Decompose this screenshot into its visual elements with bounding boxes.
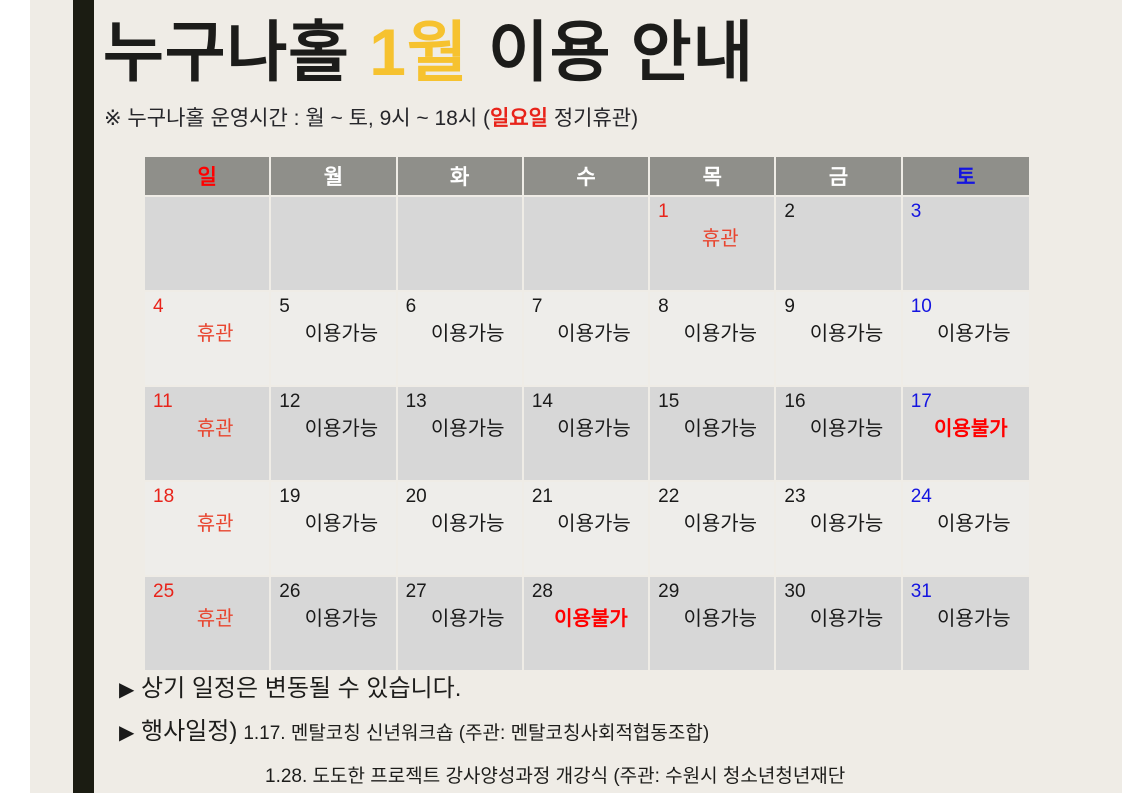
calendar-week-row: 25휴관26이용가능27이용가능28이용불가29이용가능30이용가능31이용가능 [145, 577, 1029, 672]
day-status-label: 이용가능 [903, 322, 1029, 346]
day-status-label: 이용가능 [271, 322, 395, 346]
day-number: 29 [658, 581, 679, 603]
day-status-label: 이용가능 [398, 607, 522, 631]
calendar-day-cell-6[interactable]: 6이용가능 [398, 292, 524, 387]
day-number: 4 [153, 296, 164, 318]
subtitle-suffix: 정기휴관) [548, 107, 638, 130]
day-number: 8 [658, 296, 669, 318]
calendar-day-cell-10[interactable]: 10이용가능 [903, 292, 1029, 387]
slide-canvas: 누구나홀 1월 이용 안내 ※ 누구나홀 운영시간 : 월 ~ 토, 9시 ~ … [0, 0, 1122, 793]
calendar-day-cell-27[interactable]: 27이용가능 [398, 577, 524, 672]
calendar-day-cell-13[interactable]: 13이용가능 [398, 387, 524, 482]
note-item-events: ▶ 행사일정) 1.17. 멘탈코칭 신년워크숍 (주관: 멘탈코칭사회적협동조… [119, 717, 1119, 749]
day-number: 24 [911, 486, 932, 508]
day-status-label: 이용가능 [650, 417, 774, 441]
weekday-header-금: 금 [776, 157, 902, 195]
day-status-label: 이용가능 [776, 322, 900, 346]
calendar-day-cell-24[interactable]: 24이용가능 [903, 482, 1029, 577]
calendar-day-cell-30[interactable]: 30이용가능 [776, 577, 902, 672]
day-number: 14 [532, 391, 553, 413]
weekday-header-월: 월 [271, 157, 397, 195]
day-number: 11 [153, 391, 173, 413]
calendar-week-row: 11휴관12이용가능13이용가능14이용가능15이용가능16이용가능17이용불가 [145, 387, 1029, 482]
weekday-header-목: 목 [650, 157, 776, 195]
day-number: 23 [784, 486, 805, 508]
day-status-label: 이용가능 [271, 512, 395, 536]
day-number: 20 [406, 486, 427, 508]
day-number: 15 [658, 391, 679, 413]
left-accent-bar [73, 0, 94, 793]
day-number: 31 [911, 581, 932, 603]
calendar-day-cell-1[interactable]: 1휴관 [650, 195, 776, 292]
weekday-header-수: 수 [524, 157, 650, 195]
day-number: 7 [532, 296, 543, 318]
day-status-label: 이용가능 [271, 607, 395, 631]
day-status-label: 이용가능 [650, 322, 774, 346]
day-status-label: 휴관 [145, 607, 269, 631]
calendar-day-cell-empty[interactable] [271, 195, 397, 292]
calendar-day-cell-14[interactable]: 14이용가능 [524, 387, 650, 482]
day-number: 17 [911, 391, 932, 413]
day-status-label: 휴관 [145, 512, 269, 536]
calendar-table: 일월화수목금토 1휴관234휴관5이용가능6이용가능7이용가능8이용가능9이용가… [145, 157, 1029, 672]
note-schedule-change-text: 상기 일정은 변동될 수 있습니다. [141, 674, 461, 704]
day-number: 12 [279, 391, 300, 413]
calendar-header: 일월화수목금토 [145, 157, 1029, 195]
day-number: 3 [911, 201, 922, 223]
weekday-header-일: 일 [145, 157, 271, 195]
day-number: 10 [911, 296, 932, 318]
day-number: 25 [153, 581, 174, 603]
day-status-label: 이용가능 [524, 322, 648, 346]
day-status-label: 이용가능 [398, 322, 522, 346]
day-number: 6 [406, 296, 417, 318]
note-event-jan17: 1.17. 멘탈코칭 신년워크숍 (주관: 멘탈코칭사회적협동조합) [237, 719, 709, 749]
calendar-week-row: 4휴관5이용가능6이용가능7이용가능8이용가능9이용가능10이용가능 [145, 292, 1029, 387]
day-number: 9 [784, 296, 795, 318]
footer-notes: ▶ 상기 일정은 변동될 수 있습니다. ▶ 행사일정) 1.17. 멘탈코칭 … [119, 674, 1119, 793]
calendar-day-cell-28[interactable]: 28이용불가 [524, 577, 650, 672]
day-number: 1 [658, 201, 669, 223]
calendar-day-cell-empty[interactable] [145, 195, 271, 292]
calendar-day-cell-15[interactable]: 15이용가능 [650, 387, 776, 482]
day-status-label: 이용불가 [524, 607, 648, 631]
weekday-header-화: 화 [398, 157, 524, 195]
calendar-day-cell-3[interactable]: 3 [903, 195, 1029, 292]
day-status-label: 이용가능 [776, 607, 900, 631]
calendar-day-cell-19[interactable]: 19이용가능 [271, 482, 397, 577]
day-number: 2 [784, 201, 795, 223]
calendar-day-cell-17[interactable]: 17이용불가 [903, 387, 1029, 482]
note-event-jan28: 1.28. 도도한 프로젝트 강사양성과정 개강식 (주관: 수원시 청소년청년… [265, 762, 845, 792]
weekday-header-토: 토 [903, 157, 1029, 195]
calendar-day-cell-20[interactable]: 20이용가능 [398, 482, 524, 577]
calendar-day-cell-29[interactable]: 29이용가능 [650, 577, 776, 672]
day-status-label: 이용가능 [524, 512, 648, 536]
calendar-day-cell-25[interactable]: 25휴관 [145, 577, 271, 672]
calendar-week-row: 18휴관19이용가능20이용가능21이용가능22이용가능23이용가능24이용가능 [145, 482, 1029, 577]
calendar-day-cell-21[interactable]: 21이용가능 [524, 482, 650, 577]
day-number: 27 [406, 581, 427, 603]
triangle-bullet-icon: ▶ [119, 720, 141, 745]
day-status-label: 휴관 [145, 322, 269, 346]
day-number: 30 [784, 581, 805, 603]
calendar-day-cell-4[interactable]: 4휴관 [145, 292, 271, 387]
calendar-day-cell-9[interactable]: 9이용가능 [776, 292, 902, 387]
calendar-day-cell-empty[interactable] [398, 195, 524, 292]
calendar-day-cell-empty[interactable] [524, 195, 650, 292]
left-cream-band [30, 0, 73, 793]
day-status-label: 휴관 [145, 417, 269, 441]
calendar-day-cell-31[interactable]: 31이용가능 [903, 577, 1029, 672]
day-status-label: 이용가능 [776, 417, 900, 441]
calendar-day-cell-8[interactable]: 8이용가능 [650, 292, 776, 387]
day-number: 18 [153, 486, 174, 508]
day-number: 5 [279, 296, 290, 318]
slide-content-area: 누구나홀 1월 이용 안내 ※ 누구나홀 운영시간 : 월 ~ 토, 9시 ~ … [94, 0, 1122, 793]
title-suffix: 이용 안내 [469, 15, 755, 89]
title-prefix: 누구나홀 [103, 15, 369, 89]
day-status-label: 이용가능 [903, 512, 1029, 536]
triangle-bullet-icon: ▶ [119, 677, 141, 702]
operating-hours-note: ※ 누구나홀 운영시간 : 월 ~ 토, 9시 ~ 18시 (일요일 정기휴관) [104, 105, 638, 133]
day-number: 21 [532, 486, 553, 508]
day-status-label: 이용불가 [903, 417, 1029, 441]
calendar-day-cell-16[interactable]: 16이용가능 [776, 387, 902, 482]
note-events-label: 행사일정) [141, 717, 237, 747]
calendar-day-cell-11[interactable]: 11휴관 [145, 387, 271, 482]
calendar-day-cell-22[interactable]: 22이용가능 [650, 482, 776, 577]
calendar-day-cell-26[interactable]: 26이용가능 [271, 577, 397, 672]
title-highlight-month: 1월 [369, 15, 468, 89]
day-status-label: 이용가능 [776, 512, 900, 536]
calendar-day-cell-2[interactable]: 2 [776, 195, 902, 292]
calendar-day-cell-7[interactable]: 7이용가능 [524, 292, 650, 387]
day-status-label: 이용가능 [650, 512, 774, 536]
day-number: 28 [532, 581, 553, 603]
calendar-day-cell-23[interactable]: 23이용가능 [776, 482, 902, 577]
day-status-label: 이용가능 [398, 512, 522, 536]
calendar-week-row: 1휴관23 [145, 195, 1029, 292]
day-number: 19 [279, 486, 300, 508]
day-status-label: 이용가능 [903, 607, 1029, 631]
calendar-day-cell-12[interactable]: 12이용가능 [271, 387, 397, 482]
day-number: 26 [279, 581, 300, 603]
day-number: 16 [784, 391, 805, 413]
day-status-label: 이용가능 [524, 417, 648, 441]
weekday-header-row: 일월화수목금토 [145, 157, 1029, 195]
day-number: 22 [658, 486, 679, 508]
day-status-label: 이용가능 [650, 607, 774, 631]
subtitle-highlight-sunday: 일요일 [490, 107, 548, 130]
note-item-schedule-change: ▶ 상기 일정은 변동될 수 있습니다. [119, 674, 1119, 704]
page-title: 누구나홀 1월 이용 안내 [103, 6, 754, 98]
day-status-label: 이용가능 [398, 417, 522, 441]
note-item-event-jan28: 1.28. 도도한 프로젝트 강사양성과정 개강식 (주관: 수원시 청소년청년… [119, 762, 1119, 792]
calendar-day-cell-18[interactable]: 18휴관 [145, 482, 271, 577]
subtitle-prefix: ※ 누구나홀 운영시간 : 월 ~ 토, 9시 ~ 18시 ( [104, 107, 490, 130]
calendar-body: 1휴관234휴관5이용가능6이용가능7이용가능8이용가능9이용가능10이용가능1… [145, 195, 1029, 672]
calendar-day-cell-5[interactable]: 5이용가능 [271, 292, 397, 387]
day-status-label: 이용가능 [271, 417, 395, 441]
day-status-label: 휴관 [650, 227, 774, 251]
day-number: 13 [406, 391, 427, 413]
